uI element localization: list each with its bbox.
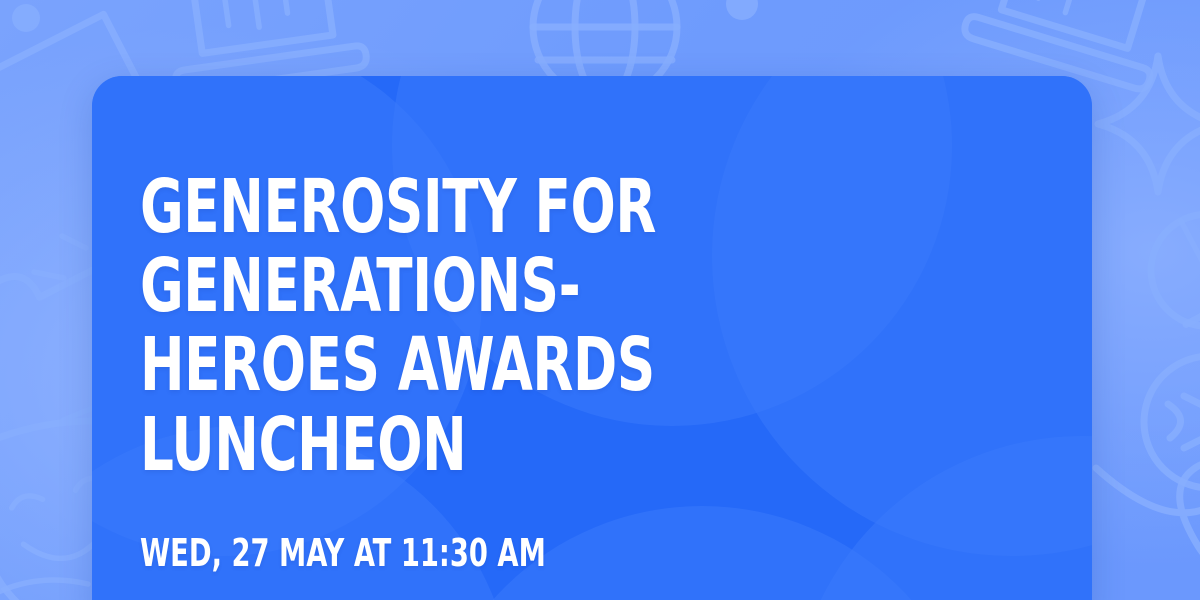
confetti-icon bbox=[34, 236, 86, 278]
confetti-icon bbox=[726, 0, 758, 20]
curved-line-icon bbox=[1144, 356, 1200, 488]
event-date-time: WED, 27 MAY AT 11:30 AM bbox=[140, 533, 902, 575]
curved-line-icon bbox=[1096, 463, 1200, 588]
curved-line-icon bbox=[1168, 404, 1181, 438]
event-banner: GENEROSITY FOR GENERATIONS- HEROES AWARD… bbox=[0, 0, 1200, 600]
confetti-icon bbox=[12, 4, 40, 32]
event-card: GENEROSITY FOR GENERATIONS- HEROES AWARD… bbox=[92, 76, 1092, 600]
event-card-content: GENEROSITY FOR GENERATIONS- HEROES AWARD… bbox=[92, 76, 1092, 574]
event-title: GENEROSITY FOR GENERATIONS- HEROES AWARD… bbox=[140, 168, 902, 485]
sparkle-icon bbox=[1098, 56, 1200, 192]
curved-line-icon bbox=[0, 580, 88, 596]
balloon-icon bbox=[1131, 194, 1200, 379]
